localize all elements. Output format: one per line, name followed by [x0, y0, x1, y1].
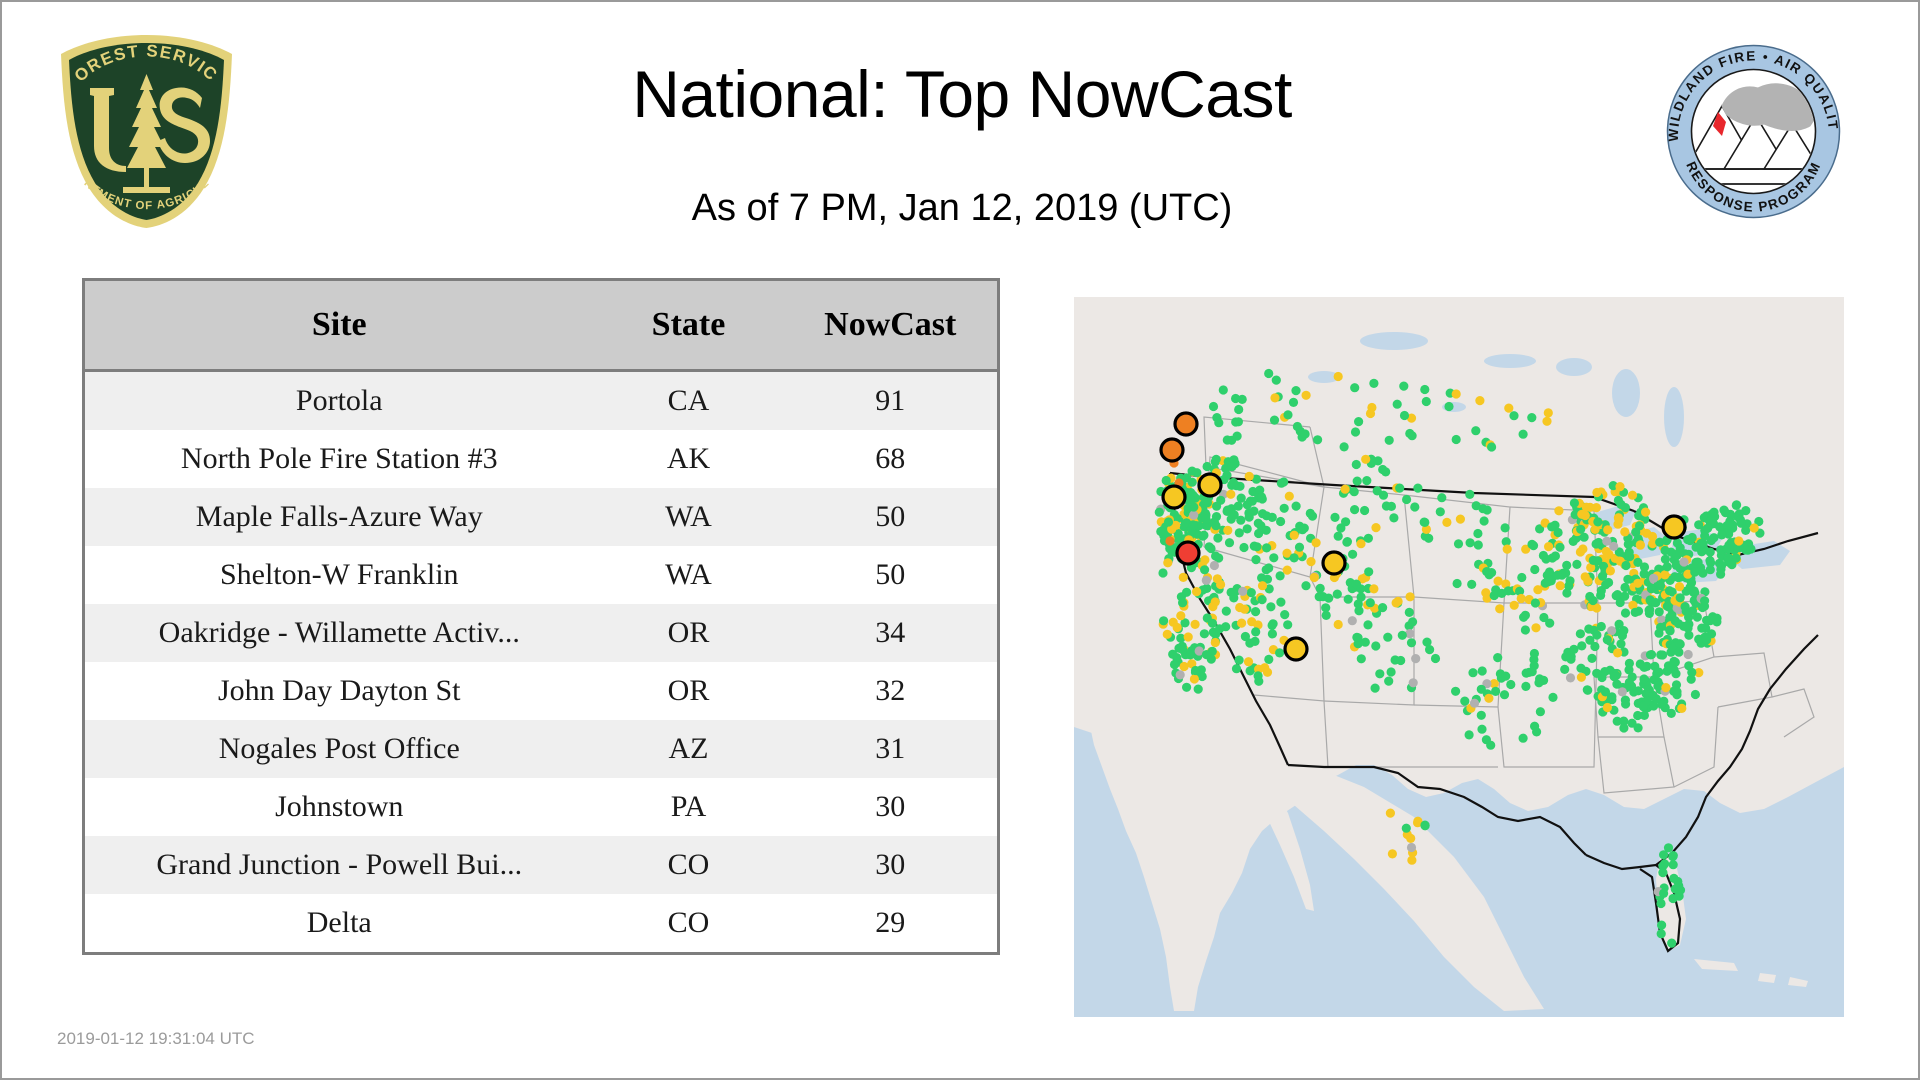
aqi-dot[interactable] [1251, 555, 1260, 564]
aqi-dot[interactable] [1486, 741, 1495, 750]
aqi-dot[interactable] [1503, 545, 1512, 554]
aqi-dot[interactable] [1212, 502, 1221, 511]
aqi-dot[interactable] [1234, 502, 1243, 511]
aqi-dot[interactable] [1420, 821, 1429, 830]
aqi-dot[interactable] [1203, 613, 1212, 622]
aqi-dot[interactable] [1527, 540, 1536, 549]
column-header-state[interactable]: State [594, 280, 784, 371]
top-site-marker[interactable]: Oakridge - Willamette Activ... (OR) [1163, 486, 1185, 508]
aqi-dot[interactable] [1581, 572, 1590, 581]
aqi-dot[interactable] [1383, 633, 1392, 642]
aqi-dot[interactable] [1615, 482, 1624, 491]
aqi-dot[interactable] [1363, 620, 1372, 629]
aqi-dot[interactable] [1633, 711, 1642, 720]
aqi-dot[interactable] [1408, 431, 1417, 440]
aqi-dot[interactable] [1159, 616, 1168, 625]
aqi-dot[interactable] [1639, 674, 1648, 683]
table-row[interactable]: Grand Junction - Powell Bui...CO30 [84, 836, 999, 894]
table-row[interactable]: Shelton-W FranklinWA50 [84, 546, 999, 604]
aqi-dot[interactable] [1248, 497, 1257, 506]
aqi-dot[interactable] [1467, 580, 1476, 589]
aqi-dot[interactable] [1606, 566, 1615, 575]
aqi-dot[interactable] [1407, 843, 1416, 852]
aqi-dot[interactable] [1341, 517, 1350, 526]
aqi-dot[interactable] [1266, 602, 1275, 611]
aqi-dot[interactable] [1702, 616, 1711, 625]
aqi-dot[interactable] [1544, 542, 1553, 551]
aqi-dot[interactable] [1222, 471, 1231, 480]
aqi-dot[interactable] [1364, 534, 1373, 543]
aqi-dot[interactable] [1240, 605, 1249, 614]
aqi-dot[interactable] [1473, 529, 1482, 538]
aqi-dot[interactable] [1245, 472, 1254, 481]
aqi-dot[interactable] [1155, 508, 1164, 517]
aqi-dot[interactable] [1188, 478, 1197, 487]
aqi-dot[interactable] [1466, 538, 1475, 547]
aqi-dot[interactable] [1257, 492, 1266, 501]
aqi-dot[interactable] [1252, 542, 1261, 551]
aqi-dot[interactable] [1609, 542, 1618, 551]
aqi-dot[interactable] [1465, 490, 1474, 499]
aqi-dot[interactable] [1341, 485, 1350, 494]
aqi-dot[interactable] [1354, 417, 1363, 426]
aqi-dot[interactable] [1564, 581, 1573, 590]
aqi-dot[interactable] [1258, 595, 1267, 604]
aqi-dot[interactable] [1386, 809, 1395, 818]
aqi-dot[interactable] [1741, 545, 1750, 554]
aqi-dot[interactable] [1270, 393, 1279, 402]
aqi-dot[interactable] [1657, 921, 1666, 930]
aqi-dot[interactable] [1592, 539, 1601, 548]
top-site-marker[interactable]: Johnstown (PA) [1663, 516, 1685, 538]
aqi-dot[interactable] [1389, 513, 1398, 522]
aqi-dot[interactable] [1719, 506, 1728, 515]
aqi-dot[interactable] [1163, 558, 1172, 567]
aqi-dot[interactable] [1603, 525, 1612, 534]
aqi-dot[interactable] [1191, 666, 1200, 675]
aqi-dot[interactable] [1216, 580, 1225, 589]
aqi-dot[interactable] [1660, 570, 1669, 579]
aqi-dot[interactable] [1658, 868, 1667, 877]
aqi-dot[interactable] [1254, 671, 1263, 680]
aqi-dot[interactable] [1603, 635, 1612, 644]
aqi-dot[interactable] [1640, 663, 1649, 672]
aqi-dot[interactable] [1176, 611, 1185, 620]
aqi-dot[interactable] [1484, 694, 1493, 703]
aqi-dot[interactable] [1615, 620, 1624, 629]
aqi-dot[interactable] [1539, 551, 1548, 560]
aqi-dot[interactable] [1494, 577, 1503, 586]
aqi-dot[interactable] [1576, 525, 1585, 534]
aqi-dot[interactable] [1688, 606, 1697, 615]
aqi-dot[interactable] [1659, 889, 1668, 898]
aqi-dot[interactable] [1717, 530, 1726, 539]
aqi-dot[interactable] [1180, 662, 1189, 671]
aqi-dot[interactable] [1548, 553, 1557, 562]
aqi-dot[interactable] [1179, 573, 1188, 582]
aqi-dot[interactable] [1620, 592, 1629, 601]
aqi-dot[interactable] [1531, 598, 1540, 607]
aqi-dot[interactable] [1260, 663, 1269, 672]
aqi-dot[interactable] [1636, 540, 1645, 549]
aqi-dot[interactable] [1413, 484, 1422, 493]
top-site-marker[interactable]: Maple Falls-Azure Way (WA) [1175, 413, 1197, 435]
aqi-dot[interactable] [1661, 546, 1670, 555]
aqi-dot[interactable] [1194, 685, 1203, 694]
aqi-dot[interactable] [1691, 690, 1700, 699]
aqi-dot[interactable] [1566, 673, 1575, 682]
aqi-dot[interactable] [1411, 654, 1420, 663]
aqi-dot[interactable] [1452, 435, 1461, 444]
aqi-dot[interactable] [1262, 526, 1271, 535]
aqi-dot[interactable] [1554, 506, 1563, 515]
aqi-dot[interactable] [1405, 608, 1414, 617]
aqi-dot[interactable] [1477, 685, 1486, 694]
aqi-dot[interactable] [1200, 565, 1209, 574]
aqi-dot[interactable] [1555, 543, 1564, 552]
aqi-dot[interactable] [1653, 681, 1662, 690]
aqi-dot[interactable] [1493, 653, 1502, 662]
aqi-dot[interactable] [1665, 626, 1674, 635]
aqi-dot[interactable] [1378, 465, 1387, 474]
aqi-dot[interactable] [1269, 553, 1278, 562]
aqi-dot[interactable] [1163, 630, 1172, 639]
aqi-dot[interactable] [1334, 620, 1343, 629]
aqi-dot[interactable] [1420, 385, 1429, 394]
aqi-dot[interactable] [1583, 686, 1592, 695]
aqi-dot[interactable] [1350, 383, 1359, 392]
aqi-dot[interactable] [1604, 578, 1613, 587]
aqi-dot[interactable] [1182, 683, 1191, 692]
aqi-dot[interactable] [1576, 629, 1585, 638]
aqi-dot[interactable] [1425, 645, 1434, 654]
aqi-dot[interactable] [1544, 408, 1553, 417]
top-site-marker[interactable]: Grand Junction - Powell Bui... (CO) [1323, 552, 1345, 574]
aqi-dot[interactable] [1302, 391, 1311, 400]
aqi-dot[interactable] [1673, 877, 1682, 886]
aqi-dot[interactable] [1624, 665, 1633, 674]
aqi-dot[interactable] [1202, 576, 1211, 585]
column-header-nowcast[interactable]: NowCast [784, 280, 999, 371]
aqi-dot[interactable] [1590, 642, 1599, 651]
aqi-dot[interactable] [1456, 515, 1465, 524]
aqi-dot[interactable] [1657, 929, 1666, 938]
table-row[interactable]: Oakridge - Willamette Activ...OR34 [84, 604, 999, 662]
aqi-dot[interactable] [1186, 650, 1195, 659]
aqi-dot[interactable] [1241, 632, 1250, 641]
aqi-dot[interactable] [1668, 852, 1677, 861]
aqi-dot[interactable] [1472, 501, 1481, 510]
aqi-dot[interactable] [1408, 617, 1417, 626]
aqi-dot[interactable] [1352, 633, 1361, 642]
aqi-dot[interactable] [1208, 602, 1217, 611]
aqi-dot[interactable] [1621, 561, 1630, 570]
aqi-dot[interactable] [1534, 678, 1543, 687]
aqi-dot[interactable] [1251, 627, 1260, 636]
aqi-dot[interactable] [1620, 527, 1629, 536]
table-row[interactable]: North Pole Fire Station #3AK68 [84, 430, 999, 488]
aqi-dot[interactable] [1407, 638, 1416, 647]
aqi-dot[interactable] [1269, 619, 1278, 628]
aqi-dot[interactable] [1673, 538, 1682, 547]
aqi-dot[interactable] [1596, 591, 1605, 600]
table-row[interactable]: Maple Falls-Azure WayWA50 [84, 488, 999, 546]
aqi-dot[interactable] [1399, 382, 1408, 391]
aqi-dot[interactable] [1356, 539, 1365, 548]
aqi-dot[interactable] [1604, 550, 1613, 559]
aqi-dot[interactable] [1192, 468, 1201, 477]
aqi-dot[interactable] [1283, 410, 1292, 419]
aqi-dot[interactable] [1262, 511, 1271, 520]
aqi-dot[interactable] [1402, 824, 1411, 833]
aqi-dot[interactable] [1454, 539, 1463, 548]
aqi-dot[interactable] [1660, 859, 1669, 868]
aqi-dot[interactable] [1406, 834, 1415, 843]
aqi-dot[interactable] [1465, 730, 1474, 739]
aqi-dot[interactable] [1528, 667, 1537, 676]
aqi-dot[interactable] [1409, 678, 1418, 687]
aqi-dot[interactable] [1556, 581, 1565, 590]
aqi-dot[interactable] [1209, 402, 1218, 411]
aqi-dot[interactable] [1692, 543, 1701, 552]
aqi-dot[interactable] [1373, 486, 1382, 495]
aqi-dot[interactable] [1280, 504, 1289, 513]
aqi-dot[interactable] [1222, 607, 1231, 616]
aqi-dot[interactable] [1646, 650, 1655, 659]
aqi-dot[interactable] [1577, 641, 1586, 650]
aqi-dot[interactable] [1669, 665, 1678, 674]
aqi-dot[interactable] [1593, 517, 1602, 526]
aqi-dot[interactable] [1517, 573, 1526, 582]
aqi-dot[interactable] [1616, 500, 1625, 509]
aqi-dot[interactable] [1658, 650, 1667, 659]
aqi-dot[interactable] [1264, 369, 1273, 378]
aqi-dot[interactable] [1234, 417, 1243, 426]
aqi-dot[interactable] [1470, 699, 1479, 708]
aqi-dot[interactable] [1243, 524, 1252, 533]
aqi-dot[interactable] [1177, 592, 1186, 601]
aqi-dot[interactable] [1655, 607, 1664, 616]
aqi-dot[interactable] [1301, 581, 1310, 590]
aqi-dot[interactable] [1392, 598, 1401, 607]
aqi-dot[interactable] [1641, 508, 1650, 517]
aqi-dot[interactable] [1393, 400, 1402, 409]
aqi-dot[interactable] [1283, 620, 1292, 629]
aqi-dot[interactable] [1168, 650, 1177, 659]
aqi-dot[interactable] [1431, 654, 1440, 663]
aqi-dot[interactable] [1246, 666, 1255, 675]
aqi-dot[interactable] [1237, 494, 1246, 503]
aqi-dot[interactable] [1285, 492, 1294, 501]
aqi-dot[interactable] [1295, 543, 1304, 552]
aqi-dot[interactable] [1402, 495, 1411, 504]
aqi-dot[interactable] [1212, 455, 1221, 464]
aqi-dot[interactable] [1244, 657, 1253, 666]
aqi-dot[interactable] [1316, 584, 1325, 593]
aqi-dot[interactable] [1659, 850, 1668, 859]
aqi-dot[interactable] [1264, 563, 1273, 572]
aqi-dot[interactable] [1211, 521, 1220, 530]
aqi-dot[interactable] [1321, 603, 1330, 612]
aqi-dot[interactable] [1348, 616, 1357, 625]
aqi-dot[interactable] [1315, 592, 1324, 601]
aqi-dot[interactable] [1616, 639, 1625, 648]
aqi-dot[interactable] [1510, 601, 1519, 610]
aqi-dot[interactable] [1665, 586, 1674, 595]
aqi-dot[interactable] [1424, 534, 1433, 543]
aqi-dot[interactable] [1491, 687, 1500, 696]
aqi-dot[interactable] [1395, 484, 1404, 493]
aqi-dot[interactable] [1436, 507, 1445, 516]
aqi-dot[interactable] [1521, 625, 1530, 634]
aqi-dot[interactable] [1334, 532, 1343, 541]
aqi-dot[interactable] [1521, 682, 1530, 691]
aqi-dot[interactable] [1676, 886, 1685, 895]
aqi-dot[interactable] [1340, 442, 1349, 451]
aqi-dot[interactable] [1453, 579, 1462, 588]
aqi-dot[interactable] [1203, 462, 1212, 471]
aqi-dot[interactable] [1612, 591, 1621, 600]
aqi-dot[interactable] [1656, 623, 1665, 632]
aqi-dot[interactable] [1173, 623, 1182, 632]
aqi-dot[interactable] [1258, 581, 1267, 590]
aqi-dot[interactable] [1471, 426, 1480, 435]
aqi-dot[interactable] [1640, 569, 1649, 578]
aqi-dot[interactable] [1396, 656, 1405, 665]
aqi-dot[interactable] [1387, 667, 1396, 676]
aqi-dot[interactable] [1592, 503, 1601, 512]
aqi-dot[interactable] [1406, 592, 1415, 601]
aqi-dot[interactable] [1724, 521, 1733, 530]
aqi-dot[interactable] [1645, 605, 1654, 614]
aqi-dot[interactable] [1519, 430, 1528, 439]
aqi-dot[interactable] [1357, 592, 1366, 601]
aqi-dot[interactable] [1280, 610, 1289, 619]
aqi-dot[interactable] [1732, 500, 1741, 509]
aqi-dot[interactable] [1298, 525, 1307, 534]
aqi-dot[interactable] [1213, 533, 1222, 542]
top-site-marker[interactable]: Portola (CA) [1177, 542, 1199, 564]
aqi-dot[interactable] [1289, 398, 1298, 407]
aqi-dot[interactable] [1276, 517, 1285, 526]
aqi-dot[interactable] [1610, 672, 1619, 681]
aqi-dot[interactable] [1709, 533, 1718, 542]
aqi-dot[interactable] [1684, 661, 1693, 670]
aqi-dot[interactable] [1603, 703, 1612, 712]
aqi-dot[interactable] [1219, 385, 1228, 394]
aqi-dot[interactable] [1191, 620, 1200, 629]
aqi-dot[interactable] [1561, 568, 1570, 577]
aqi-dot[interactable] [1652, 694, 1661, 703]
aqi-dot[interactable] [1442, 518, 1451, 527]
aqi-dot[interactable] [1613, 520, 1622, 529]
aqi-dot[interactable] [1189, 521, 1198, 530]
aqi-dot[interactable] [1544, 575, 1553, 584]
aqi-dot[interactable] [1675, 582, 1684, 591]
aqi-dot[interactable] [1200, 629, 1209, 638]
aqi-dot[interactable] [1352, 460, 1361, 469]
aqi-dot[interactable] [1384, 677, 1393, 686]
aqi-dot[interactable] [1444, 402, 1453, 411]
aqi-dot[interactable] [1688, 533, 1697, 542]
aqi-dot[interactable] [1682, 622, 1691, 631]
aqi-dot[interactable] [1234, 405, 1243, 414]
aqi-dot[interactable] [1451, 687, 1460, 696]
aqi-dot[interactable] [1547, 522, 1556, 531]
aqi-dot[interactable] [1531, 623, 1540, 632]
aqi-dot[interactable] [1237, 619, 1246, 628]
aqi-dot[interactable] [1357, 654, 1366, 663]
aqi-dot[interactable] [1621, 696, 1630, 705]
aqi-dot[interactable] [1517, 594, 1526, 603]
aqi-dot[interactable] [1607, 626, 1616, 635]
aqi-dot[interactable] [1506, 680, 1515, 689]
aqi-dot[interactable] [1656, 899, 1665, 908]
aqi-dot[interactable] [1724, 553, 1733, 562]
aqi-dot[interactable] [1690, 568, 1699, 577]
aqi-dot[interactable] [1527, 413, 1536, 422]
aqi-dot[interactable] [1279, 477, 1288, 486]
aqi-dot[interactable] [1184, 632, 1193, 641]
aqi-dot[interactable] [1378, 603, 1387, 612]
aqi-dot[interactable] [1293, 422, 1302, 431]
aqi-dot[interactable] [1264, 655, 1273, 664]
national-monitor-map[interactable]: Maple Falls-Azure Way (WA)Shelton-W Fran… [1074, 297, 1844, 1017]
aqi-dot[interactable] [1250, 637, 1259, 646]
aqi-dot[interactable] [1229, 593, 1238, 602]
aqi-dot[interactable] [1276, 571, 1285, 580]
aqi-dot[interactable] [1705, 556, 1714, 565]
aqi-dot[interactable] [1504, 404, 1513, 413]
aqi-dot[interactable] [1627, 719, 1636, 728]
aqi-dot[interactable] [1352, 580, 1361, 589]
aqi-dot[interactable] [1371, 523, 1380, 532]
aqi-dot[interactable] [1495, 604, 1504, 613]
aqi-dot[interactable] [1257, 573, 1266, 582]
aqi-dot[interactable] [1567, 652, 1576, 661]
aqi-dot[interactable] [1214, 418, 1223, 427]
aqi-dot[interactable] [1165, 536, 1174, 545]
aqi-dot[interactable] [1607, 695, 1616, 704]
aqi-dot[interactable] [1292, 502, 1301, 511]
aqi-dot[interactable] [1649, 574, 1658, 583]
aqi-dot[interactable] [1460, 697, 1469, 706]
aqi-dot[interactable] [1369, 584, 1378, 593]
aqi-dot[interactable] [1474, 540, 1483, 549]
aqi-dot[interactable] [1635, 521, 1644, 530]
aqi-dot[interactable] [1291, 386, 1300, 395]
aqi-dot[interactable] [1385, 436, 1394, 445]
aqi-dot[interactable] [1572, 560, 1581, 569]
aqi-dot[interactable] [1366, 409, 1375, 418]
aqi-dot[interactable] [1497, 589, 1506, 598]
aqi-dot[interactable] [1334, 372, 1343, 381]
aqi-dot[interactable] [1333, 590, 1342, 599]
aqi-dot[interactable] [1542, 417, 1551, 426]
aqi-dot[interactable] [1670, 572, 1679, 581]
aqi-dot[interactable] [1178, 645, 1187, 654]
aqi-dot[interactable] [1156, 527, 1165, 536]
aqi-dot[interactable] [1631, 608, 1640, 617]
aqi-dot[interactable] [1676, 593, 1685, 602]
aqi-dot[interactable] [1202, 650, 1211, 659]
table-row[interactable]: Nogales Post OfficeAZ31 [84, 720, 999, 778]
aqi-dot[interactable] [1601, 687, 1610, 696]
aqi-dot[interactable] [1437, 493, 1446, 502]
aqi-dot[interactable] [1452, 389, 1461, 398]
column-header-site[interactable]: Site [84, 280, 594, 371]
aqi-dot[interactable] [1211, 638, 1220, 647]
